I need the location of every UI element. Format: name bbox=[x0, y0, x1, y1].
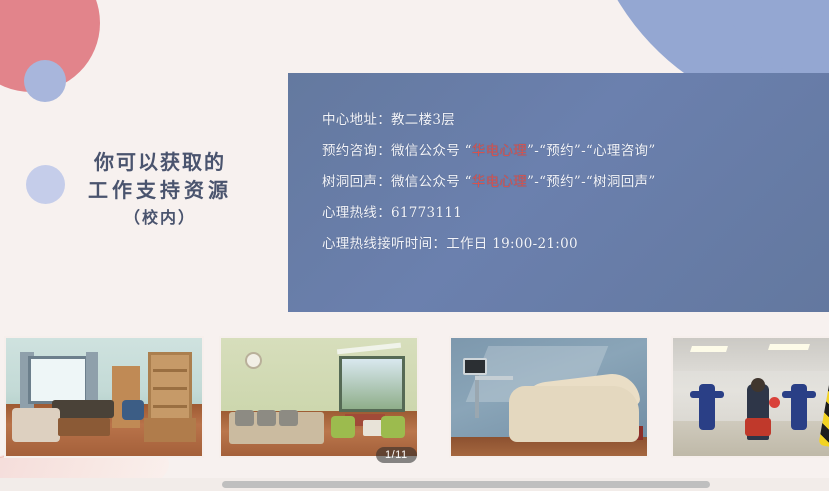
gallery-counter-badge: 1/11 bbox=[376, 447, 417, 463]
page-title: 你可以获取的 工作支持资源 （校内） bbox=[60, 148, 260, 230]
info-booking-pre: 微信公众号 “ bbox=[391, 143, 472, 159]
info-label-address: 中心地址： bbox=[322, 112, 391, 128]
gallery-photo-2[interactable] bbox=[219, 336, 419, 458]
page-title-line2: 工作支持资源 bbox=[60, 176, 260, 204]
info-value-hotline-hours: 工作日 19:00-21:00 bbox=[446, 236, 578, 252]
page-title-subtitle: （校内） bbox=[60, 207, 260, 230]
photo-2-illustration bbox=[221, 338, 417, 456]
contact-info-panel: 中心地址：教二楼3层 预约咨询：微信公众号 “华电心理”-“预约”-“心理咨询”… bbox=[288, 73, 829, 312]
info-label-hotline-hours: 心理热线接听时间： bbox=[322, 236, 446, 252]
gallery-photo-1[interactable] bbox=[4, 336, 204, 458]
info-line-hotline-hours: 心理热线接听时间：工作日 19:00-21:00 bbox=[322, 229, 656, 260]
horizontal-scrollbar-thumb[interactable] bbox=[222, 481, 710, 488]
info-line-hotline: 心理热线：61773111 bbox=[322, 198, 656, 229]
blob-blue-circle-icon bbox=[24, 60, 66, 102]
photo-4-illustration bbox=[673, 338, 829, 456]
photo-1-illustration bbox=[6, 338, 202, 456]
gallery-photo-4[interactable] bbox=[671, 336, 829, 458]
info-treehole-post: ”-“预约”-“树洞回声” bbox=[527, 174, 656, 190]
horizontal-scrollbar-track[interactable] bbox=[0, 478, 829, 491]
info-line-address: 中心地址：教二楼3层 bbox=[322, 105, 656, 136]
info-value-hotline: 61773111 bbox=[391, 205, 462, 221]
info-treehole-account: 华电心理 bbox=[472, 174, 527, 190]
info-value-address: 教二楼3层 bbox=[391, 112, 455, 128]
info-booking-post: ”-“预约”-“心理咨询” bbox=[527, 143, 656, 159]
info-treehole-pre: 微信公众号 “ bbox=[391, 174, 472, 190]
photo-gallery[interactable] bbox=[0, 336, 829, 466]
photo-3-illustration bbox=[451, 338, 647, 456]
info-line-booking: 预约咨询：微信公众号 “华电心理”-“预约”-“心理咨询” bbox=[322, 136, 656, 167]
info-label-treehole: 树洞回声： bbox=[322, 174, 391, 190]
gallery-photo-3[interactable] bbox=[449, 336, 649, 458]
info-label-booking: 预约咨询： bbox=[322, 143, 391, 159]
contact-info-lines: 中心地址：教二楼3层 预约咨询：微信公众号 “华电心理”-“预约”-“心理咨询”… bbox=[322, 105, 656, 260]
info-line-treehole: 树洞回声：微信公众号 “华电心理”-“预约”-“树洞回声” bbox=[322, 167, 656, 198]
page-title-line1: 你可以获取的 bbox=[60, 148, 260, 176]
info-label-hotline: 心理热线： bbox=[322, 205, 391, 221]
info-booking-account: 华电心理 bbox=[472, 143, 527, 159]
